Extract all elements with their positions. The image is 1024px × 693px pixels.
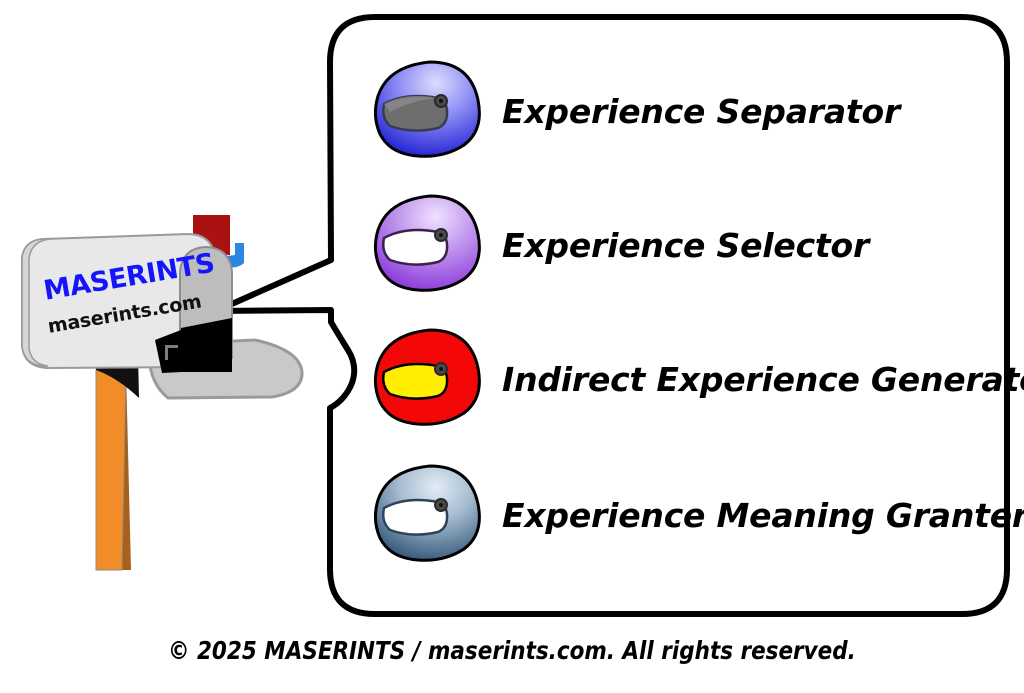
- list-item-label: Experience Selector: [502, 229, 869, 262]
- footer: © 2025 MASERINTS / maserints.com. All ri…: [0, 636, 1024, 665]
- racing-helmet-icon: [368, 52, 488, 170]
- list-item[interactable]: Indirect Experience Generator: [368, 320, 1024, 438]
- helmet-2-svg: [368, 320, 488, 438]
- racing-helmet-icon: [368, 186, 488, 304]
- helmet-pivot-dot: [439, 503, 443, 507]
- copyright-text: © 2025 MASERINTS / maserints.com. All ri…: [168, 636, 856, 665]
- list-item-label: Indirect Experience Generator: [502, 363, 1024, 396]
- list-item[interactable]: Experience Meaning Granter: [368, 456, 1024, 574]
- helmet-3-svg: [368, 456, 488, 574]
- callout-items-layer: Experience Separator: [0, 0, 1024, 689]
- helmet-pivot-dot: [439, 367, 443, 371]
- helmet-pivot-dot: [439, 233, 443, 237]
- helmet-1-svg: [368, 186, 488, 304]
- list-item-label: Experience Meaning Granter: [502, 499, 1024, 532]
- list-item-label: Experience Separator: [502, 95, 900, 128]
- racing-helmet-icon: [368, 456, 488, 574]
- helmet-0-svg: [368, 52, 488, 170]
- list-item[interactable]: Experience Selector: [368, 186, 869, 304]
- diagram-canvas: MASERINTS maserints.com: [0, 0, 1024, 689]
- racing-helmet-icon: [368, 320, 488, 438]
- helmet-pivot-dot: [439, 99, 443, 103]
- list-item[interactable]: Experience Separator: [368, 52, 900, 170]
